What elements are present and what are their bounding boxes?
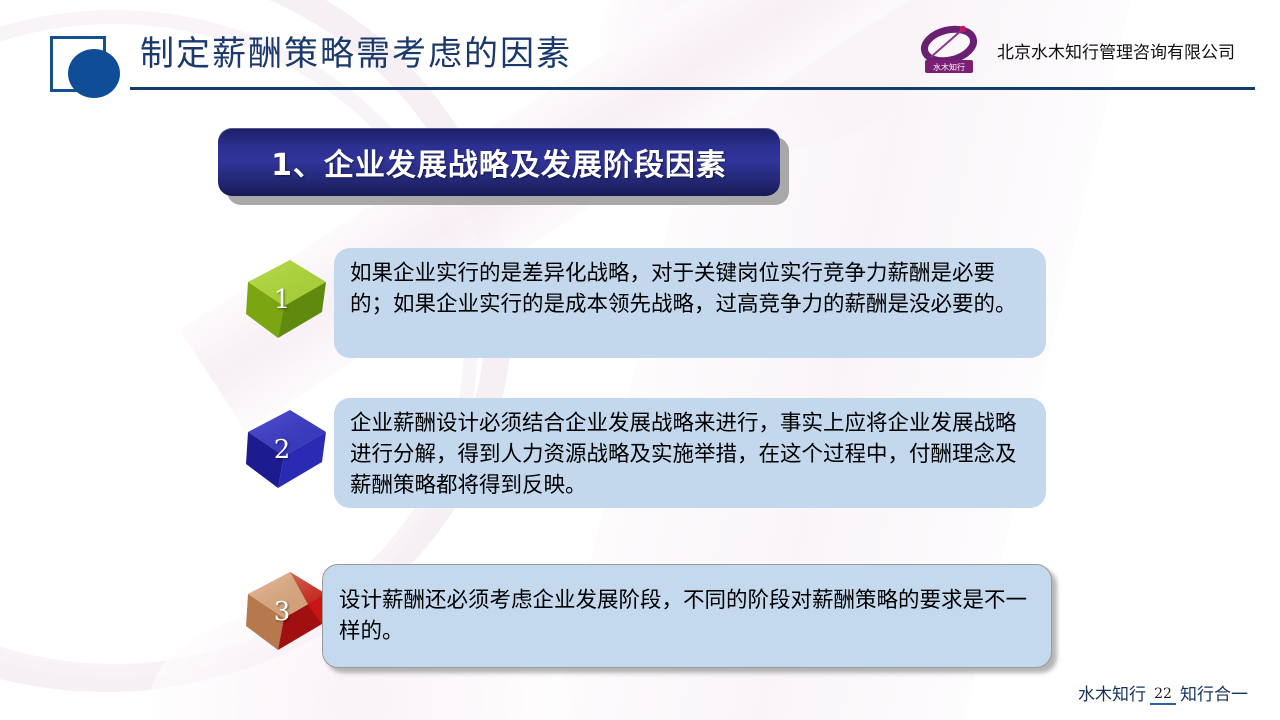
numbered-cube-3: 3 <box>244 568 330 654</box>
footer-right-text: 知行合一 <box>1180 680 1248 705</box>
svg-text:水木知行: 水木知行 <box>933 62 965 72</box>
page-number: 22 <box>1154 687 1172 701</box>
company-logo-block: 水木知行 北京水木知行管理咨询有限公司 <box>915 24 1235 76</box>
company-name: 北京水木知行管理咨询有限公司 <box>997 38 1235 63</box>
section-heading-text: 1、企业发展战略及发展阶段因素 <box>271 140 727 184</box>
numbered-cube-2: 2 <box>244 406 330 492</box>
item-text-2: 企业薪酬设计必须结合企业发展战略来进行，事实上应将企业发展战略进行分解，得到人力… <box>334 398 1046 508</box>
item-text-1: 如果企业实行的是差异化战略，对于关键岗位实行竞争力薪酬是必要的；如果企业实行的是… <box>334 248 1046 358</box>
page-title: 制定薪酬策略需考虑的因素 <box>140 26 572 75</box>
slide-footer: 水木知行 22 知行合一 <box>1078 680 1248 705</box>
numbered-cube-1: 1 <box>244 256 330 342</box>
banner-body: 1、企业发展战略及发展阶段因素 <box>218 128 780 196</box>
shuimuzhixing-logo-icon: 水木知行 <box>915 24 985 76</box>
section-heading-banner: 1、企业发展战略及发展阶段因素 <box>218 128 780 196</box>
footer-left-text: 水木知行 <box>1078 680 1146 705</box>
header-divider <box>130 87 1255 90</box>
item-text-3: 设计薪酬还必须考虑企业发展阶段，不同的阶段对薪酬策略的要求是不一样的。 <box>322 564 1052 668</box>
circle-decoration <box>68 49 120 98</box>
page-number-underline <box>1150 703 1176 705</box>
footer-page-number-wrap: 22 <box>1150 687 1176 705</box>
slide-header: 制定薪酬策略需考虑的因素 水木知行 北京水木知行管理咨询有限公司 <box>0 0 1280 100</box>
